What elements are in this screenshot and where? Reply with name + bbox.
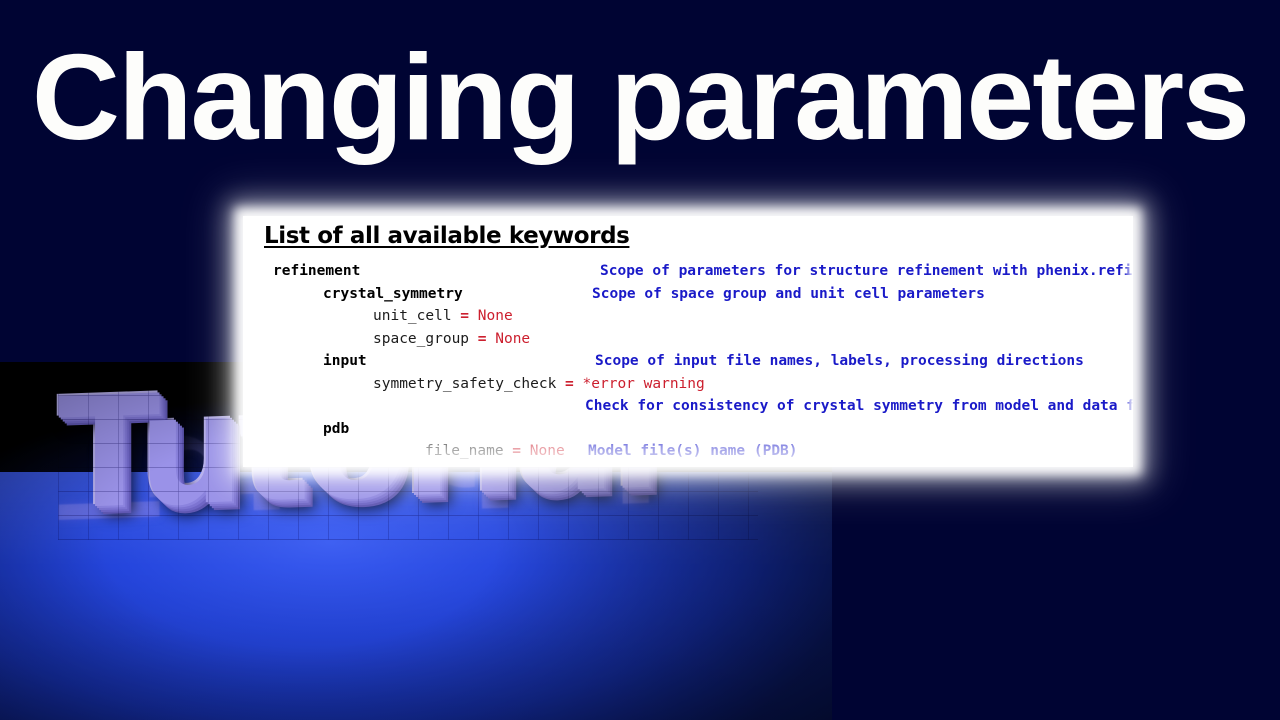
keyword-row: Check for consistency of crystal symmetr…	[243, 399, 1133, 422]
keyword-row: space_group = None	[243, 332, 1133, 355]
keyword-value: None	[530, 443, 565, 459]
keyword-listing: refinementScope of parameters for struct…	[243, 264, 1133, 467]
panel-heading: List of all available keywords	[264, 223, 629, 249]
keyword-row: crystal_symmetryScope of space group and…	[243, 287, 1133, 310]
page-title: Changing parameters	[0, 36, 1280, 158]
keyword-name: crystal_symmetry	[323, 287, 463, 302]
keyword-row: inputScope of input file names, labels, …	[243, 354, 1133, 377]
keyword-help-text: Check for consistency of crystal symmetr…	[585, 399, 1133, 414]
keyword-name: symmetry_safety_check = *error warning	[373, 377, 705, 392]
keyword-label: pdb	[323, 421, 349, 437]
keyword-name: refinement	[273, 264, 360, 279]
keyword-help-text: Scope of parameters for structure refine…	[600, 264, 1133, 279]
keyword-label: symmetry_safety_check	[373, 376, 556, 392]
keyword-name: pdb	[323, 422, 349, 437]
keyword-label: unit_cell	[373, 308, 452, 324]
keyword-help-text: Model file(s) name (PDB)	[588, 444, 798, 459]
keyword-label: crystal_symmetry	[323, 286, 463, 302]
keyword-value: *error warning	[583, 376, 705, 392]
keyword-value: None	[495, 331, 530, 347]
keyword-name: file_name = None	[425, 444, 565, 459]
presentation-slide: Changing parameters Tutorial Tutorial Li…	[0, 0, 1280, 720]
keyword-value: None	[478, 308, 513, 324]
keyword-row: refinementScope of parameters for struct…	[243, 264, 1133, 287]
keyword-label: input	[323, 353, 367, 369]
keyword-help-text: Scope of input file names, labels, proce…	[595, 354, 1084, 369]
keyword-name: unit_cell = None	[373, 309, 513, 324]
keyword-row: unit_cell = None	[243, 309, 1133, 332]
keyword-name: input	[323, 354, 367, 369]
keyword-row: file_name = NoneModel file(s) name (PDB)	[243, 444, 1133, 467]
keyword-label: file_name	[425, 443, 504, 459]
keyword-label: space_group	[373, 331, 469, 347]
keyword-assign: =	[452, 308, 478, 324]
keyword-panel: List of all available keywords refinemen…	[243, 216, 1133, 467]
keyword-assign: =	[469, 331, 495, 347]
keyword-help-text: Scope of space group and unit cell param…	[592, 287, 985, 302]
keyword-row: symmetry_safety_check = *error warning	[243, 377, 1133, 400]
keyword-row: pdb	[243, 422, 1133, 445]
keyword-assign: =	[556, 376, 582, 392]
keyword-name: space_group = None	[373, 332, 530, 347]
keyword-label: refinement	[273, 263, 360, 279]
keyword-assign: =	[504, 443, 530, 459]
